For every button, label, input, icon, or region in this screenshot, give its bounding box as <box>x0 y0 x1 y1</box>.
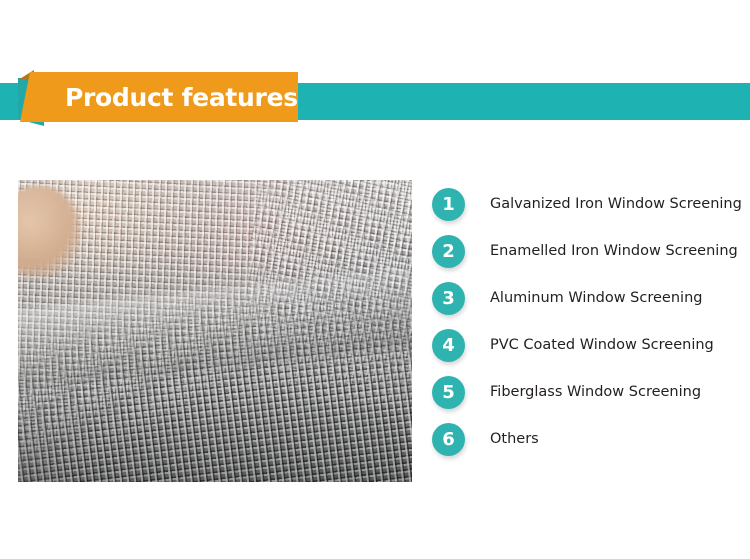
page-title: Product features <box>65 85 298 110</box>
feature-label-5: Fiberglass Window Screening <box>490 384 701 401</box>
product-photo <box>18 180 412 482</box>
list-item: 2 Enamelled Iron Window Screening <box>432 235 742 268</box>
main-content: 1 Galvanized Iron Window Screening 2 Ena… <box>0 150 750 550</box>
list-item: 4 PVC Coated Window Screening <box>432 329 742 362</box>
list-item: 5 Fiberglass Window Screening <box>432 376 742 409</box>
feature-label-2: Enamelled Iron Window Screening <box>490 243 738 260</box>
list-item: 6 Others <box>432 423 742 456</box>
feature-label-3: Aluminum Window Screening <box>490 290 702 307</box>
feature-label-1: Galvanized Iron Window Screening <box>490 196 742 213</box>
number-badge-3: 3 <box>432 282 465 315</box>
number-badge-5: 5 <box>432 376 465 409</box>
list-item: 1 Galvanized Iron Window Screening <box>432 188 742 221</box>
list-item: 3 Aluminum Window Screening <box>432 282 742 315</box>
number-badge-6: 6 <box>432 423 465 456</box>
feature-label-6: Others <box>490 431 539 448</box>
feature-label-4: PVC Coated Window Screening <box>490 337 714 354</box>
section-header-banner: Product features <box>20 72 298 122</box>
feature-list: 1 Galvanized Iron Window Screening 2 Ena… <box>432 188 742 470</box>
number-badge-2: 2 <box>432 235 465 268</box>
number-badge-4: 4 <box>432 329 465 362</box>
number-badge-1: 1 <box>432 188 465 221</box>
